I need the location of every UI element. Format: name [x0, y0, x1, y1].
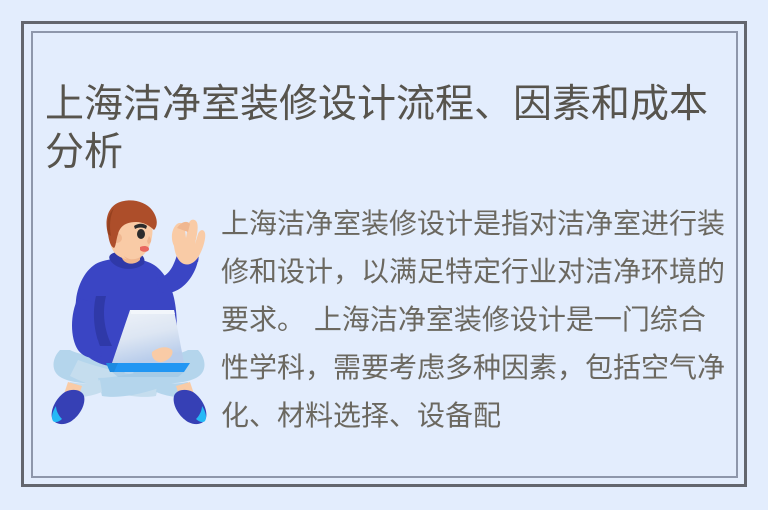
illustration-svg — [48, 200, 210, 425]
article-body-text: 上海洁净室装修设计是指对洁净室进行装修和设计，以满足特定行业对洁净环境的要求。 … — [221, 200, 733, 440]
article-card-page: 上海洁净室装修设计流程、因素和成本分析 — [0, 0, 768, 510]
person-sitting-with-laptop-illustration — [48, 200, 210, 425]
page-title: 上海洁净室装修设计流程、因素和成本分析 — [45, 81, 735, 177]
